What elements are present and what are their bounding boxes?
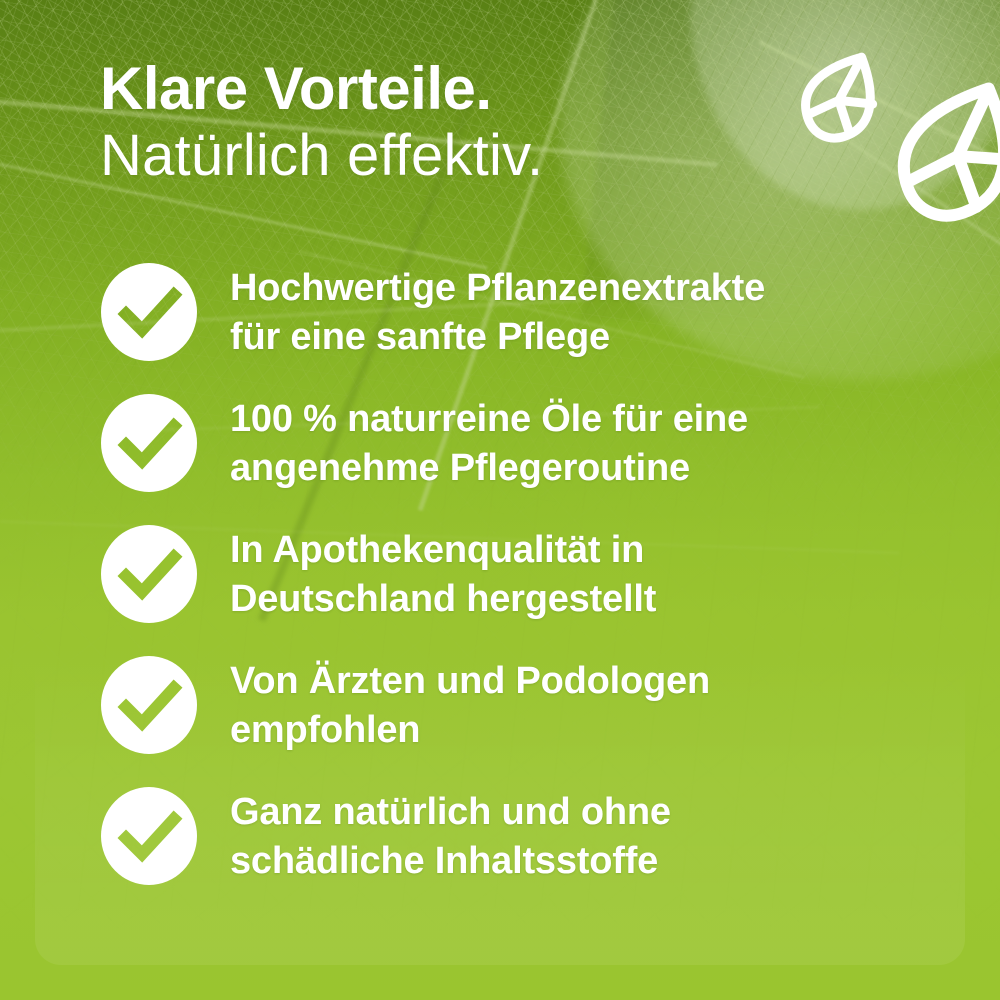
promo-graphic: Klare Vorteile. Natürlich effektiv. Hoch…	[0, 0, 1000, 1000]
list-item: Ganz natürlich und ohne schädliche Inhal…	[100, 786, 930, 917]
list-item: In Apothekenqualität in Deutschland herg…	[100, 524, 930, 655]
headline-line-1: Klare Vorteile.	[100, 58, 920, 120]
check-icon	[100, 524, 198, 624]
benefit-text: Hochwertige Pflanzenextrakte für eine sa…	[230, 264, 920, 363]
benefit-text: 100 % naturreine Öle für eine angenehme …	[230, 395, 920, 494]
list-item: Von Ärzten und Podologen empfohlen	[100, 655, 930, 786]
benefit-line-2: Deutschland hergestellt	[230, 575, 920, 624]
check-icon	[100, 786, 198, 886]
benefit-text: Ganz natürlich und ohne schädliche Inhal…	[230, 788, 920, 887]
benefit-line-2: empfohlen	[230, 706, 920, 755]
benefit-line-1: Hochwertige Pflanzenextrakte	[230, 264, 920, 313]
headline: Klare Vorteile. Natürlich effektiv.	[100, 58, 920, 189]
list-item: Hochwertige Pflanzenextrakte für eine sa…	[100, 262, 930, 393]
check-icon	[100, 262, 198, 362]
benefit-text: In Apothekenqualität in Deutschland herg…	[230, 526, 920, 625]
benefit-line-1: 100 % naturreine Öle für eine	[230, 395, 920, 444]
check-icon	[100, 655, 198, 755]
benefit-line-1: Ganz natürlich und ohne	[230, 788, 920, 837]
benefit-list: Hochwertige Pflanzenextrakte für eine sa…	[100, 262, 930, 917]
benefit-line-1: Von Ärzten und Podologen	[230, 657, 920, 706]
benefit-line-2: schädliche Inhaltsstoffe	[230, 837, 920, 886]
benefit-line-1: In Apothekenqualität in	[230, 526, 920, 575]
headline-line-2: Natürlich effektiv.	[100, 124, 920, 189]
benefit-line-2: für eine sanfte Pflege	[230, 313, 920, 362]
benefit-line-2: angenehme Pflegeroutine	[230, 444, 920, 493]
check-icon	[100, 393, 198, 493]
list-item: 100 % naturreine Öle für eine angenehme …	[100, 393, 930, 524]
benefit-text: Von Ärzten und Podologen empfohlen	[230, 657, 920, 756]
